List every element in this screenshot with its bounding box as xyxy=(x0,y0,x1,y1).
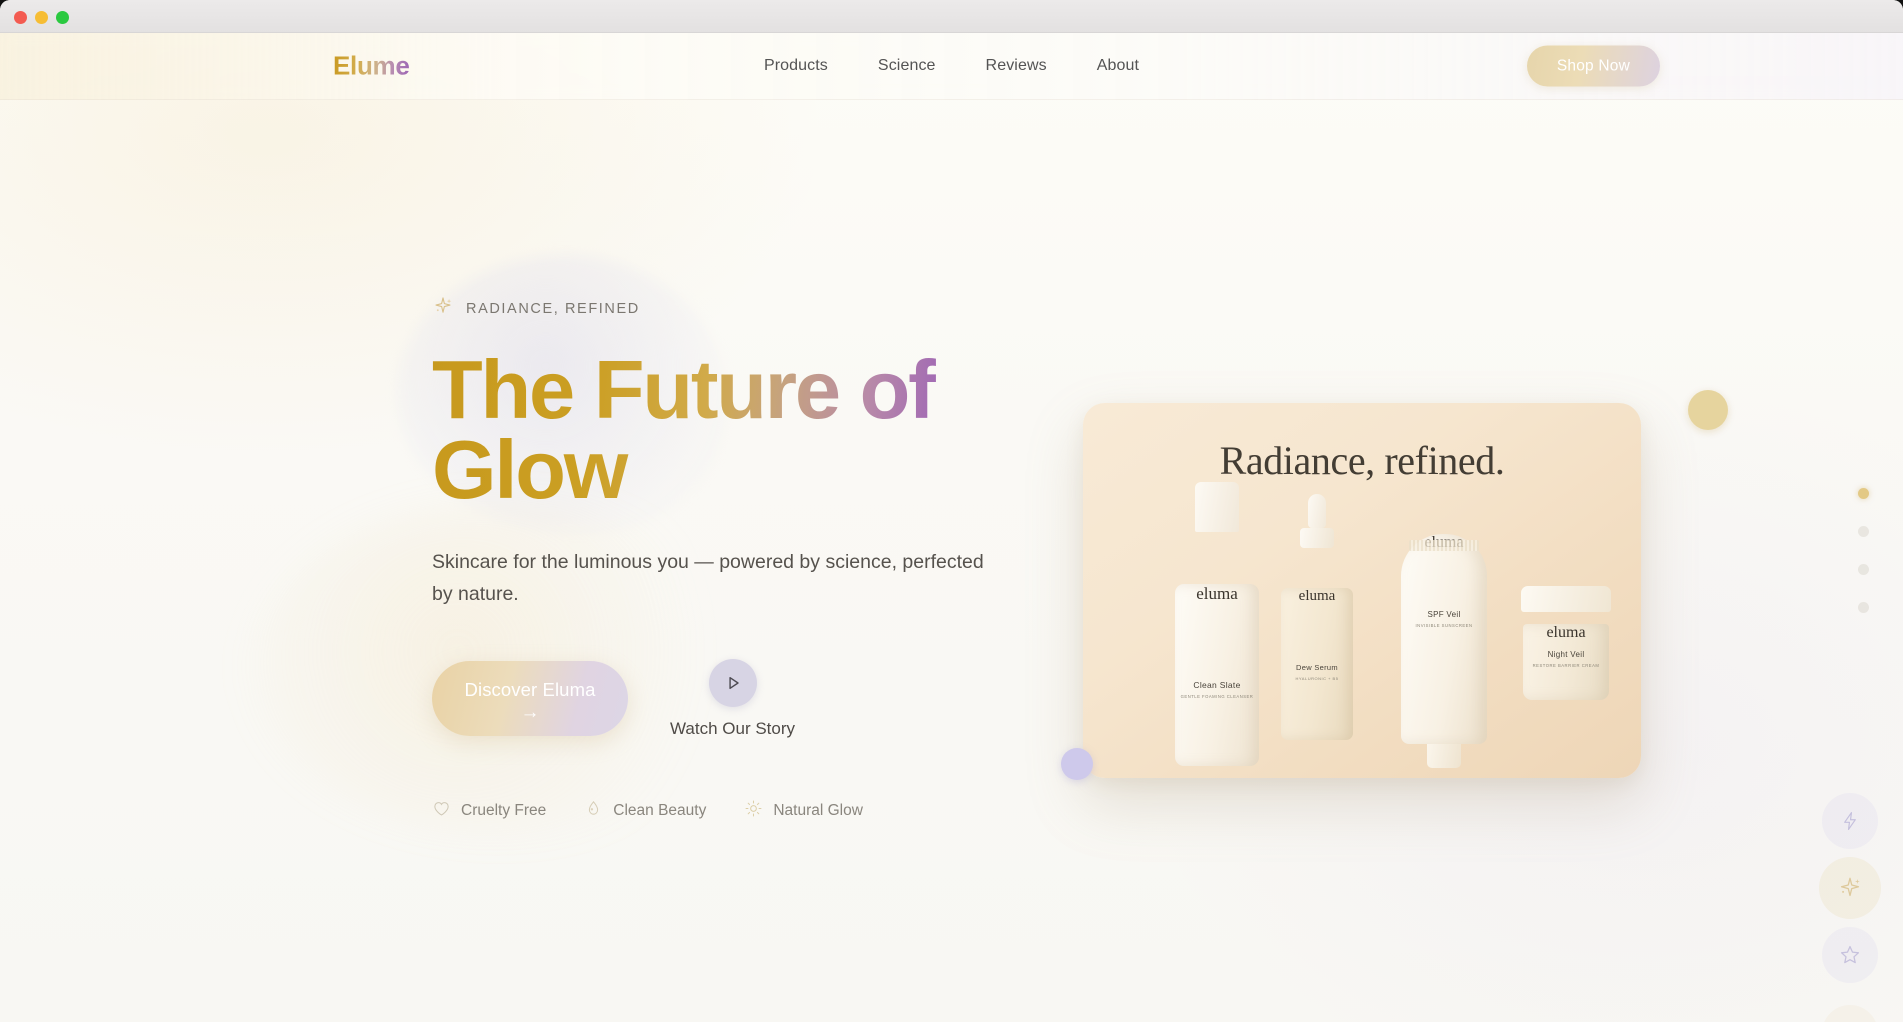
badge-label: Cruelty Free xyxy=(461,802,546,820)
maximize-window-button[interactable] xyxy=(56,11,69,24)
scroll-dot-4[interactable] xyxy=(1858,602,1869,613)
product-name: Clean Slate xyxy=(1175,680,1259,690)
product-brand: eluma xyxy=(1523,624,1609,642)
hero-eyebrow: RADIANCE, REFINED xyxy=(432,295,1032,322)
nav-item-products[interactable]: Products xyxy=(764,57,828,75)
nav-item-science[interactable]: Science xyxy=(878,57,936,75)
decorative-circle-gold xyxy=(1688,390,1728,430)
product-lineup: eluma Clean Slate GENTLE FOAMING CLEANSE… xyxy=(1083,478,1641,778)
bottle-body: eluma Dew Serum HYALURONIC + B5 xyxy=(1281,588,1353,740)
product-name: SPF Veil xyxy=(1401,610,1487,619)
badge-label: Natural Glow xyxy=(773,802,863,820)
badge-label: Clean Beauty xyxy=(613,802,706,820)
product-dew-serum: eluma Dew Serum HYALURONIC + B5 xyxy=(1281,494,1353,740)
product-brand: eluma xyxy=(1175,584,1259,604)
droplet-icon xyxy=(584,799,603,823)
watch-our-story-label: Watch Our Story xyxy=(670,719,795,739)
product-subtitle: INVISIBLE SUNSCREEN xyxy=(1401,623,1487,628)
jar-body: eluma Night Veil RESTORE BARRIER CREAM xyxy=(1523,624,1609,700)
traffic-lights xyxy=(14,11,69,24)
tube-crimp xyxy=(1409,540,1479,551)
product-subtitle: GENTLE FOAMING CLEANSER xyxy=(1175,694,1259,699)
hero-eyebrow-text: RADIANCE, REFINED xyxy=(466,301,640,317)
bottle-cap xyxy=(1195,482,1239,532)
hero-content: RADIANCE, REFINED The Future of Glow Ski… xyxy=(432,295,1032,823)
browser-window: Elume Products Science Reviews About Sho… xyxy=(0,0,1903,1022)
sun-icon xyxy=(744,799,763,823)
hero-subheadline: Skincare for the luminous you — powered … xyxy=(432,547,1007,610)
tube-cap xyxy=(1427,744,1461,768)
product-name: Dew Serum xyxy=(1281,663,1353,672)
decorative-circle-lavender xyxy=(1061,748,1093,780)
scroll-indicator xyxy=(1858,488,1869,613)
shop-now-button[interactable]: Shop Now xyxy=(1527,46,1660,87)
discover-button-label: Discover Eluma xyxy=(465,679,596,701)
product-subtitle: RESTORE BARRIER CREAM xyxy=(1523,663,1609,668)
product-night-veil: eluma Night Veil RESTORE BARRIER CREAM xyxy=(1521,586,1611,700)
dropper-cap xyxy=(1308,494,1326,528)
nav-item-about[interactable]: About xyxy=(1097,57,1139,75)
sparkle-icon[interactable] xyxy=(1819,857,1881,919)
heart-icon xyxy=(432,799,451,823)
product-card-title: Radiance, refined. xyxy=(1083,437,1641,484)
scroll-dot-1[interactable] xyxy=(1858,488,1869,499)
hero-badges: Cruelty Free Clean Beauty xyxy=(432,799,1032,823)
close-window-button[interactable] xyxy=(14,11,27,24)
hero-headline: The Future of Glow xyxy=(432,350,952,509)
hero-cta-row: Discover Eluma → Watch Our Story xyxy=(432,659,1032,739)
bottle-body: eluma Clean Slate GENTLE FOAMING CLEANSE… xyxy=(1175,584,1259,766)
arrow-right-icon: → xyxy=(521,703,540,722)
product-clean-slate: eluma Clean Slate GENTLE FOAMING CLEANSE… xyxy=(1175,482,1259,766)
hero-product-card-wrapper: Radiance, refined. eluma Clean Slate GEN… xyxy=(1083,403,1643,781)
product-spf-veil: eluma SPF Veil INVISIBLE SUNSCREEN xyxy=(1401,482,1487,768)
product-subtitle: HYALURONIC + B5 xyxy=(1281,676,1353,681)
site-header: Elume Products Science Reviews About Sho… xyxy=(0,33,1903,100)
play-icon[interactable] xyxy=(709,659,757,707)
minimize-window-button[interactable] xyxy=(35,11,48,24)
scroll-dot-3[interactable] xyxy=(1858,564,1869,575)
nav-item-reviews[interactable]: Reviews xyxy=(986,57,1047,75)
badge-cruelty-free: Cruelty Free xyxy=(432,799,546,823)
lightning-icon[interactable] xyxy=(1822,793,1878,849)
badge-natural-glow: Natural Glow xyxy=(744,799,863,823)
bottle-neck xyxy=(1300,528,1334,548)
floating-action-rail xyxy=(1819,793,1881,1022)
scroll-dot-2[interactable] xyxy=(1858,526,1869,537)
product-name: Night Veil xyxy=(1523,650,1609,659)
discover-eluma-button[interactable]: Discover Eluma → xyxy=(432,661,628,736)
product-showcase-card[interactable]: Radiance, refined. eluma Clean Slate GEN… xyxy=(1083,403,1641,778)
title-bar xyxy=(0,0,1903,33)
tube-body: eluma SPF Veil INVISIBLE SUNSCREEN xyxy=(1401,534,1487,744)
page-viewport: Elume Products Science Reviews About Sho… xyxy=(0,33,1903,1022)
sparkle-icon xyxy=(432,295,454,322)
product-brand: eluma xyxy=(1281,588,1353,605)
badge-clean-beauty: Clean Beauty xyxy=(584,799,706,823)
jar-lid xyxy=(1521,586,1611,612)
watch-our-story-button[interactable]: Watch Our Story xyxy=(670,659,795,739)
heart-icon[interactable] xyxy=(1822,1005,1878,1022)
star-icon[interactable] xyxy=(1822,927,1878,983)
